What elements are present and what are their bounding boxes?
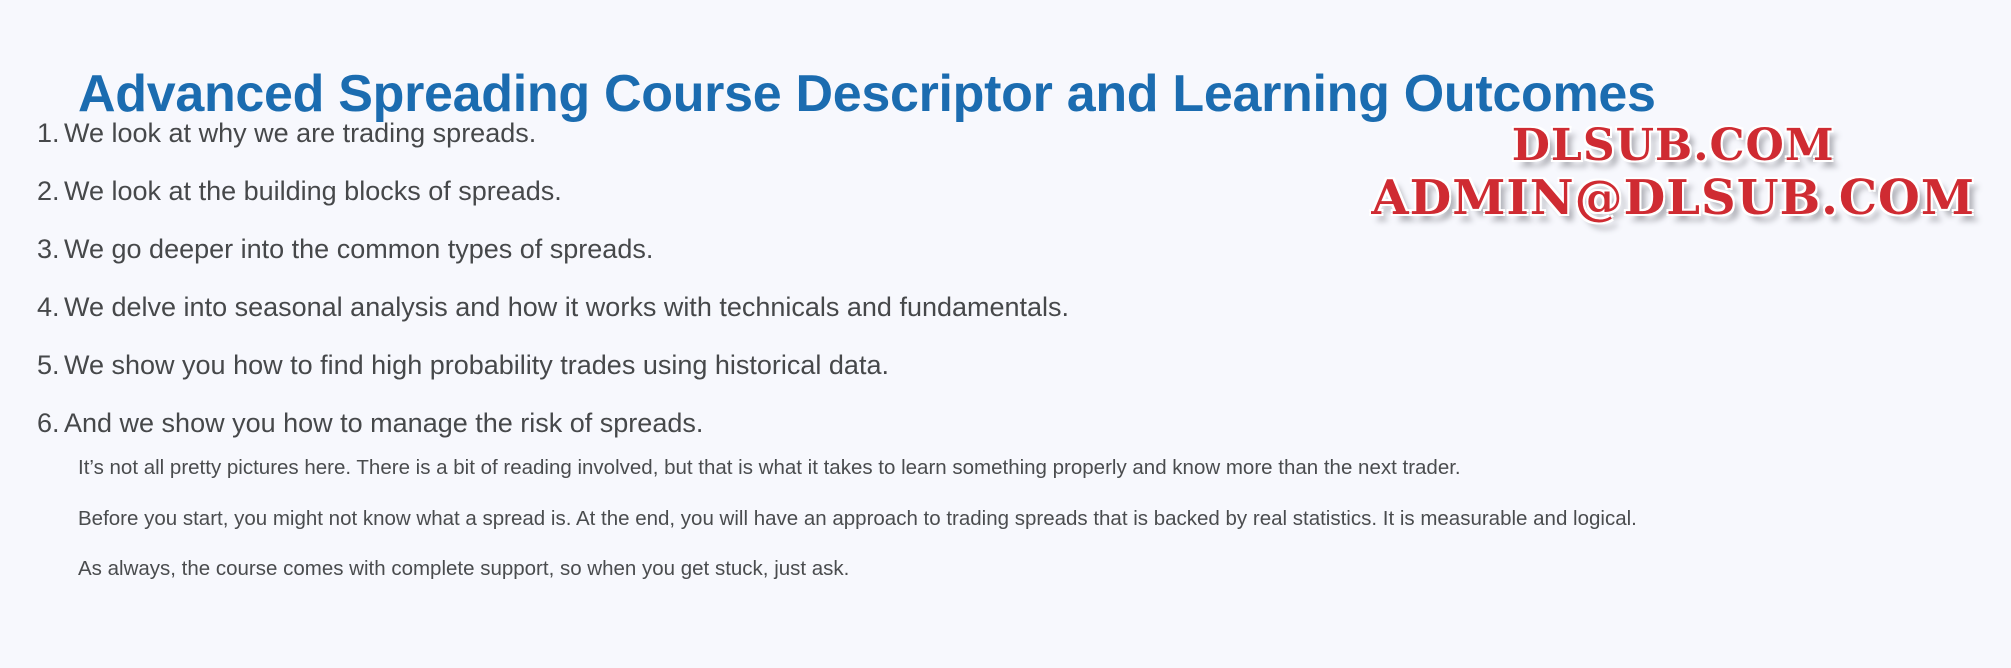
list-item-number: 4. bbox=[37, 278, 64, 336]
list-item-number: 2. bbox=[37, 162, 64, 220]
description-paragraphs: It’s not all pretty pictures here. There… bbox=[78, 455, 1978, 583]
learning-outcomes-list: 1. We look at why we are trading spreads… bbox=[37, 104, 1069, 452]
list-item-text: We delve into seasonal analysis and how … bbox=[64, 278, 1069, 336]
list-item-number: 6. bbox=[37, 394, 64, 452]
list-item: 6. And we show you how to manage the ris… bbox=[37, 394, 1069, 452]
list-item: 4. We delve into seasonal analysis and h… bbox=[37, 278, 1069, 336]
list-item-text: And we show you how to manage the risk o… bbox=[64, 394, 703, 452]
watermark-site-line: DLSUB.COM bbox=[1371, 124, 1975, 168]
watermark: DLSUB.COM ADMIN@DLSUB.COM bbox=[1371, 124, 1975, 222]
list-item-text: We look at why we are trading spreads. bbox=[64, 104, 536, 162]
paragraph: It’s not all pretty pictures here. There… bbox=[78, 455, 1978, 482]
list-item-text: We show you how to find high probability… bbox=[64, 336, 889, 394]
list-item: 2. We look at the building blocks of spr… bbox=[37, 162, 1069, 220]
watermark-email-line: ADMIN@DLSUB.COM bbox=[1371, 174, 1975, 222]
list-item: 5. We show you how to find high probabil… bbox=[37, 336, 1069, 394]
list-item-text: We go deeper into the common types of sp… bbox=[64, 220, 653, 278]
list-item: 3. We go deeper into the common types of… bbox=[37, 220, 1069, 278]
paragraph: As always, the course comes with complet… bbox=[78, 556, 1978, 583]
list-item-number: 3. bbox=[37, 220, 64, 278]
list-item-number: 5. bbox=[37, 336, 64, 394]
course-descriptor-page: Advanced Spreading Course Descriptor and… bbox=[0, 0, 2011, 668]
paragraph: Before you start, you might not know wha… bbox=[78, 506, 1978, 533]
list-item-number: 1. bbox=[37, 104, 64, 162]
list-item: 1. We look at why we are trading spreads… bbox=[37, 104, 1069, 162]
list-item-text: We look at the building blocks of spread… bbox=[64, 162, 562, 220]
